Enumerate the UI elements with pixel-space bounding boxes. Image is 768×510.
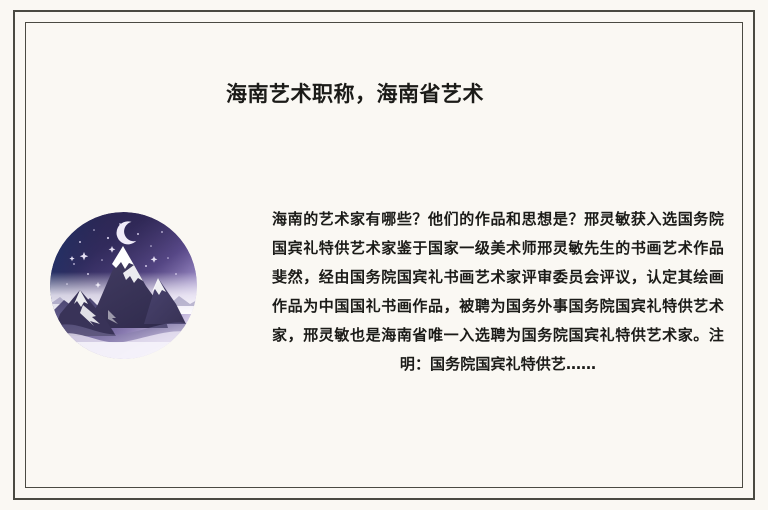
night-sky-mountain-icon [50, 212, 197, 359]
article-content-row: 海南的艺术家有哪些？他们的作品和思想是？邢灵敏获入选国务院国宾礼特供艺术家鉴于国… [0, 195, 768, 425]
article-excerpt: 海南的艺术家有哪些？他们的作品和思想是？邢灵敏获入选国务院国宾礼特供艺术家鉴于国… [272, 205, 724, 379]
page-title: 海南艺术职称，海南省艺术 [226, 78, 484, 108]
article-card: 海南艺术职称，海南省艺术 [0, 0, 768, 510]
article-thumbnail[interactable] [50, 212, 197, 359]
